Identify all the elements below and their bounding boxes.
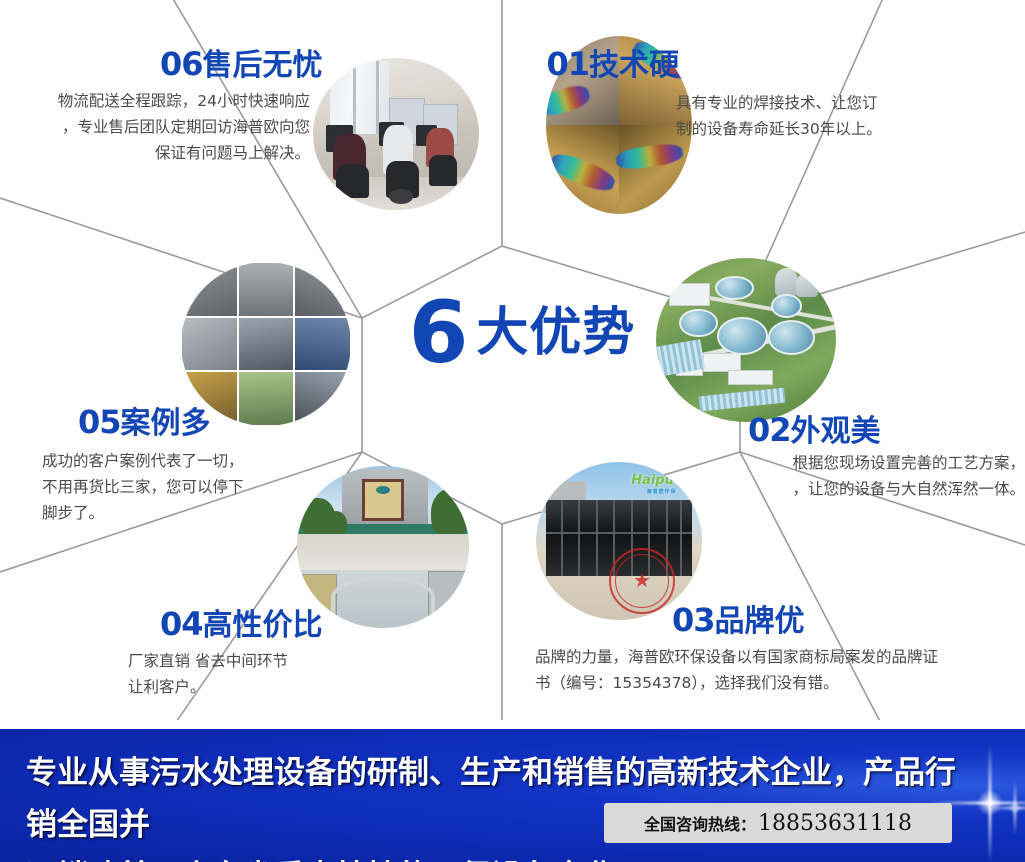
black-tank-product-photo: Haipuou 海普欧环保 ★ (536, 462, 702, 620)
hotline-number: 18853631118 (758, 811, 912, 836)
advantage-03-body: 品牌的力量，海普欧环保设备以有国家商标局案发的品牌证 书（编号：15354378… (535, 644, 1025, 696)
hotline-label: 全国咨询热线： (644, 811, 756, 835)
center-title: 大优势 (476, 305, 635, 361)
advantage-06-number: 06 (160, 45, 203, 83)
advantage-03-heading: 03品牌优 (672, 604, 805, 638)
advantage-05-number: 05 (78, 403, 121, 441)
hotline-box[interactable]: 全国咨询热线： 18853631118 (604, 803, 952, 843)
advantage-06-title: 售后无忧 (203, 48, 323, 83)
advantage-04-number: 04 (160, 605, 203, 643)
advantage-02-heading: 02外观美 (748, 414, 881, 448)
trademark-seal-icon: ★ (609, 548, 675, 614)
advantage-06-body: 物流配送全程跟踪，24小时快速响应 ，专业售后团队定期回访海普欧向您 保证有问题… (10, 88, 310, 166)
advantage-01-heading: 01技术硬 (546, 48, 679, 82)
advantage-05-title: 案例多 (121, 406, 211, 441)
sparkle-small-icon (988, 781, 1025, 835)
advantage-03-title: 品牌优 (715, 604, 805, 639)
advantage-05-heading: 05案例多 (78, 406, 211, 440)
advantage-04-heading: 04高性价比 (160, 608, 323, 642)
advantage-01-body: 具有专业的焊接技术、让您订 制的设备寿命延长30年以上。 (676, 90, 1006, 142)
haipuou-watermark: Haipuou 海普欧环保 (631, 473, 692, 495)
advantage-02-number: 02 (748, 411, 791, 449)
advantage-02-title: 外观美 (791, 414, 881, 449)
advantage-01-number: 01 (546, 45, 589, 83)
center-number: 6 (409, 295, 467, 371)
advantage-05-body: 成功的客户案例代表了一切， 不用再货比三家，您可以停下 脚步了。 (42, 448, 322, 526)
advantage-06-heading: 06售后无忧 (160, 48, 323, 82)
banner-line-2: 远销欧美，山东省重点扶持的环保设备企业。 (26, 851, 986, 862)
office-team-photo (313, 58, 479, 210)
advantage-04-title: 高性价比 (203, 608, 323, 643)
center-label: 6 大优势 (352, 288, 692, 378)
advantage-04-body: 厂家直销 省去中间环节 让利客户。 (128, 648, 458, 700)
sewage-plant-aerial-photo (656, 258, 836, 422)
factory-gate-photo (297, 466, 469, 628)
advantage-01-title: 技术硬 (589, 48, 679, 83)
case-collage-photo (181, 262, 351, 426)
advantage-03-number: 03 (672, 601, 715, 639)
infographic-root: 6 大优势 (0, 0, 1025, 862)
advantage-02-body: 根据您现场设置完善的工艺方案， ，让您的设备与大自然浑然一体。 (690, 450, 1025, 502)
